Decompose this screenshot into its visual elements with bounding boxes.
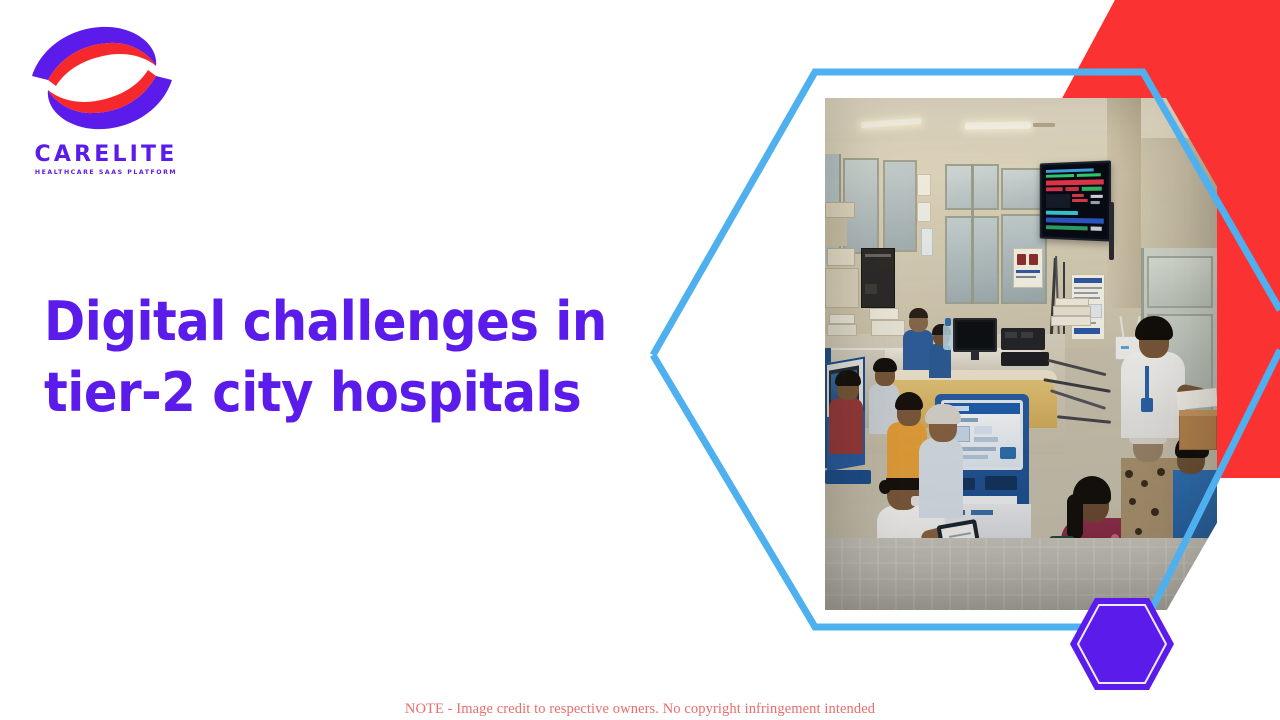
brand-name: CARELITE [26, 144, 186, 166]
brand-tagline: HEALTHCARE SAAS PLATFORM [26, 170, 186, 176]
page-title-line-2: tier-2 city hospitals [44, 357, 596, 428]
purple-hexagon-accent [1068, 596, 1176, 692]
slide-canvas: CARELITE HEALTHCARE SAAS PLATFORM Digita… [0, 0, 1280, 720]
image-credit-note: NOTE - Image credit to respective owners… [0, 701, 1280, 718]
brand-logo[interactable]: CARELITE HEALTHCARE SAAS PLATFORM [26, 22, 196, 172]
page-title-line-1: Digital challenges in [44, 286, 596, 357]
page-title: Digital challenges in tier-2 city hospit… [44, 286, 596, 429]
carelite-c-swoosh-logo [26, 22, 178, 134]
